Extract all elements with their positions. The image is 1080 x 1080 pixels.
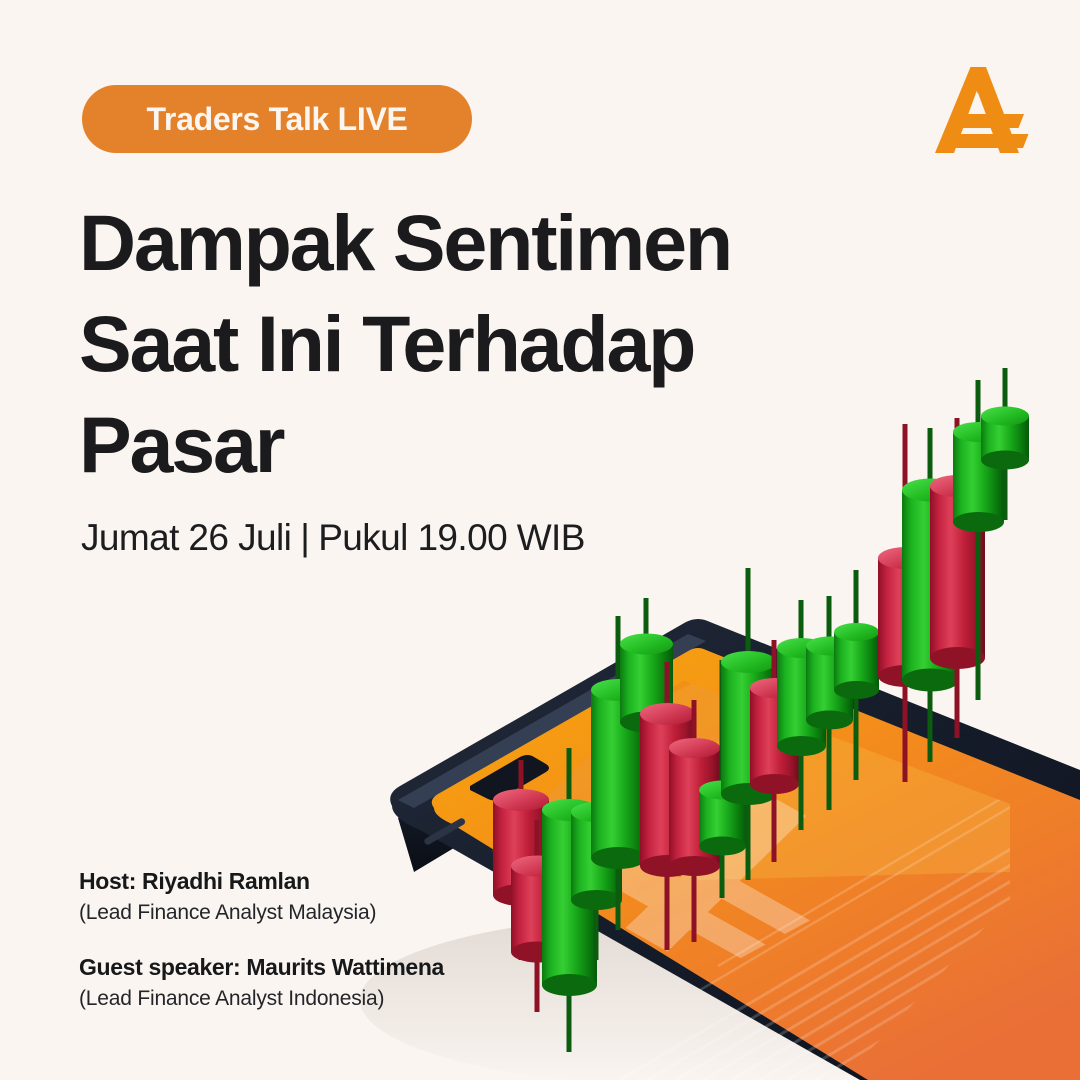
page-title-line-3: Pasar	[79, 394, 799, 495]
credit-guest-name: Guest speaker: Maurits Wattimena	[79, 952, 444, 982]
live-badge[interactable]: Traders Talk LIVE	[82, 85, 472, 153]
brand-logo-icon	[928, 55, 1038, 165]
credit-guest-role: (Lead Finance Analyst Indonesia)	[79, 984, 444, 1014]
page-title-line-2: Saat Ini Terhadap	[79, 293, 799, 394]
promo-poster: Traders Talk LIVE Dampak Sentimen Saat I…	[0, 0, 1080, 1080]
credit-host-name: Host: Riyadhi Ramlan	[79, 866, 444, 896]
credit-host: Host: Riyadhi Ramlan (Lead Finance Analy…	[79, 866, 444, 928]
page-title: Dampak Sentimen Saat Ini Terhadap Pasar	[79, 192, 799, 495]
schedule-separator: |	[291, 517, 318, 559]
schedule-date: Jumat 26 Juli	[81, 517, 291, 558]
credit-host-role: (Lead Finance Analyst Malaysia)	[79, 898, 444, 928]
live-badge-label: Traders Talk LIVE	[146, 101, 407, 138]
schedule-line: Jumat 26 Juli|Pukul 19.00 WIB	[81, 517, 585, 559]
schedule-time: Pukul 19.00 WIB	[318, 517, 585, 558]
credits: Host: Riyadhi Ramlan (Lead Finance Analy…	[79, 866, 444, 1014]
page-title-line-1: Dampak Sentimen	[79, 192, 799, 293]
credit-guest: Guest speaker: Maurits Wattimena (Lead F…	[79, 952, 444, 1014]
